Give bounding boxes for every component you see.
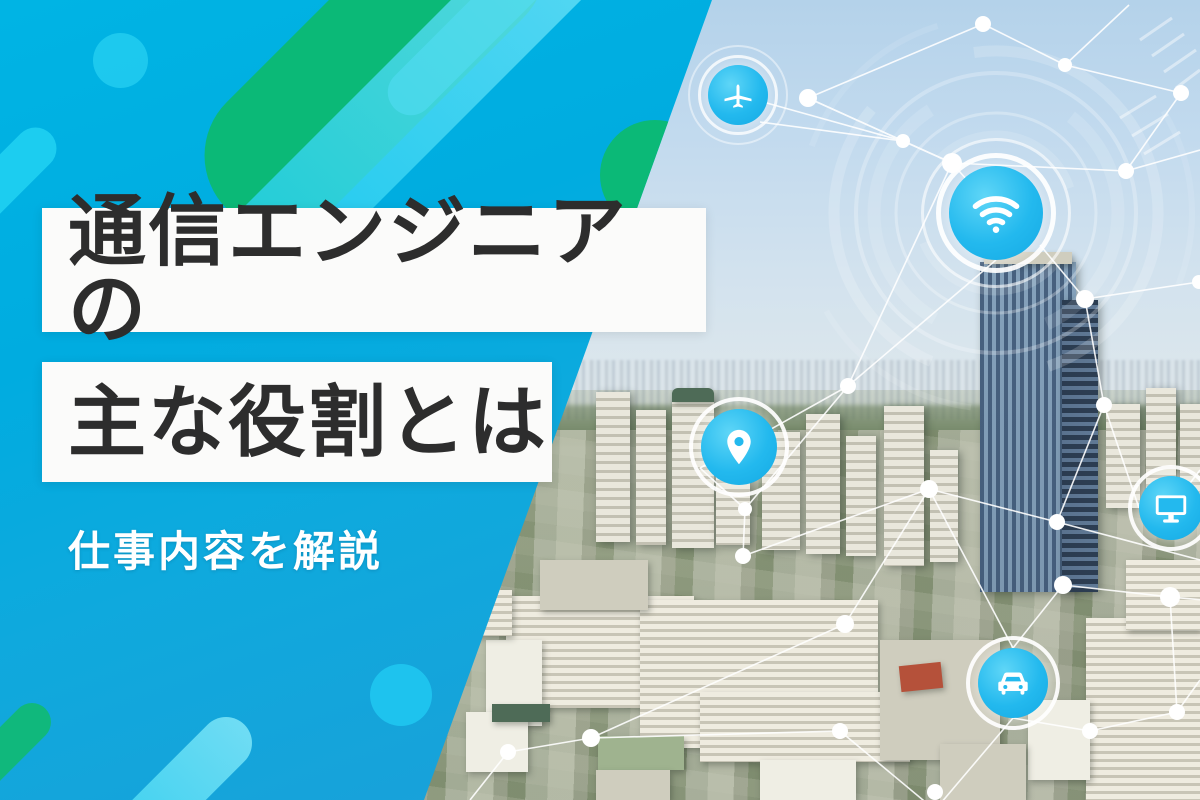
monitor-icon — [1139, 476, 1200, 540]
title-box-line-2: 主な役割とは — [42, 362, 552, 482]
cyan-capsule-bottom — [49, 706, 263, 800]
green-capsule-bottom-left — [0, 695, 59, 800]
airplane-icon — [708, 65, 768, 125]
page-title-line-1: 通信エンジニアの — [68, 192, 706, 348]
car-icon — [978, 648, 1048, 718]
page-subtitle: 仕事内容を解説 — [68, 531, 383, 573]
page-title-line-2: 主な役割とは — [68, 383, 548, 461]
wifi-icon — [949, 166, 1043, 260]
cyan-circle-bottom-right — [370, 664, 432, 726]
title-box-line-1: 通信エンジニアの — [42, 208, 706, 332]
location-pin-icon — [701, 409, 777, 485]
cyan-circle-upper-left — [93, 33, 148, 88]
hero-banner: 通信エンジニアの 主な役割とは 仕事内容を解説 — [0, 0, 1200, 800]
